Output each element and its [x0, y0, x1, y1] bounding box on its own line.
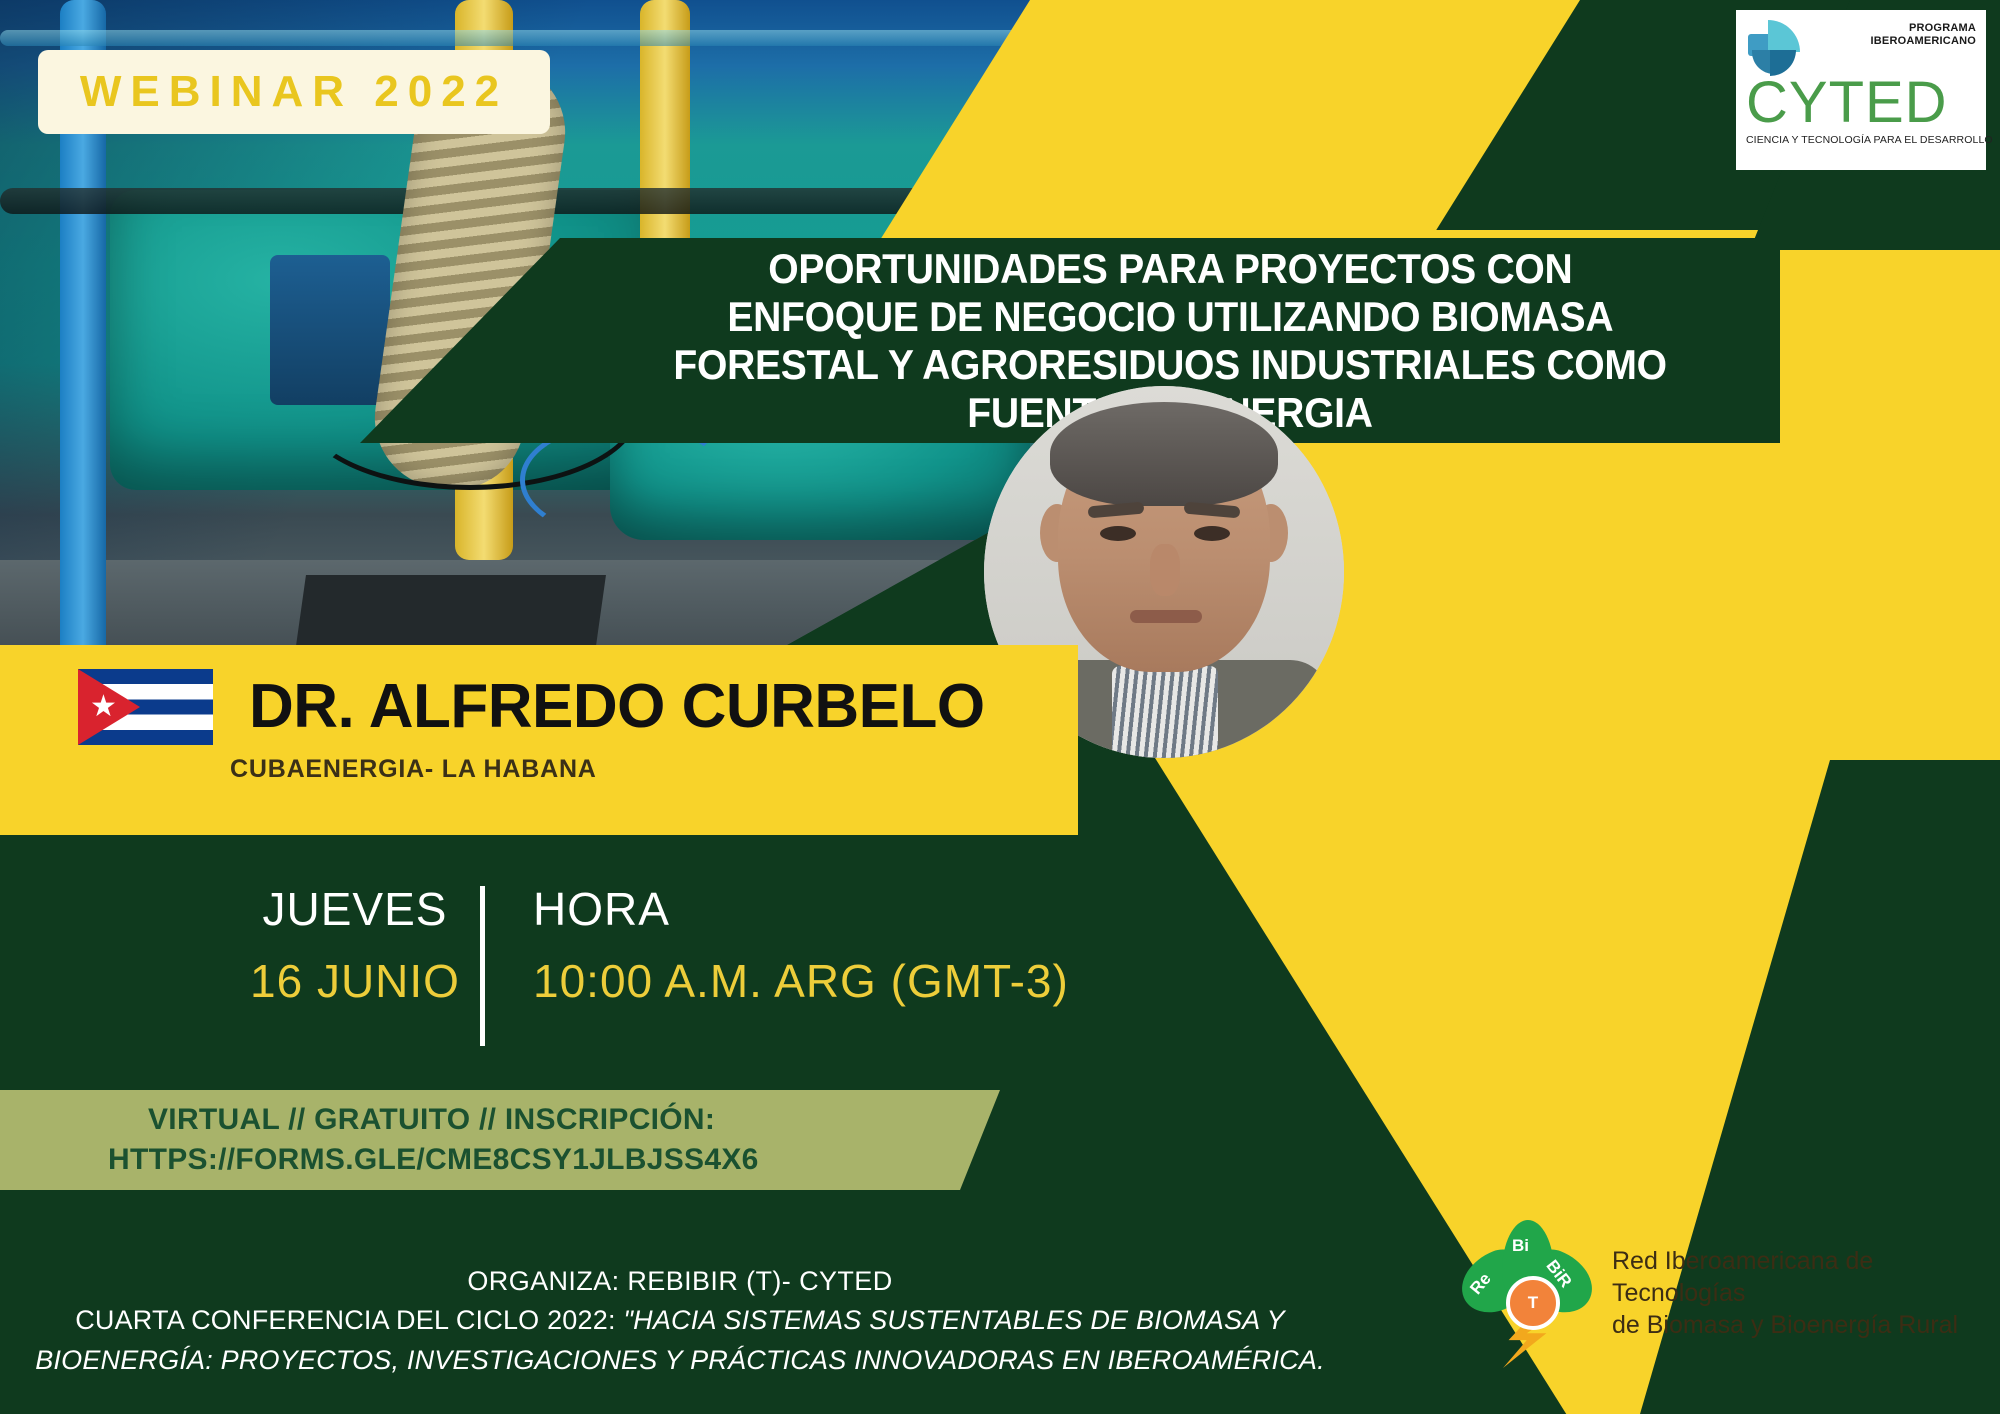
- schedule-date-value: 16 JUNIO: [240, 950, 470, 1012]
- cyted-logo-top: PROGRAMA IBEROAMERICANO: [1746, 16, 1976, 72]
- cyted-wordmark: CYTED: [1746, 74, 1976, 132]
- photo-rail: [0, 30, 1100, 46]
- registration-band[interactable]: VIRTUAL // GRATUITO // INSCRIPCIÓN: HTTP…: [0, 1090, 1000, 1190]
- footer-conference-line-2: BIOENERGÍA: PROYECTOS, INVESTIGACIONES Y…: [0, 1340, 1360, 1380]
- rebibir-center-circle: T: [1506, 1276, 1560, 1330]
- cyted-program-line1: PROGRAMA: [1871, 22, 1976, 35]
- cuba-flag-icon: [78, 669, 213, 745]
- speaker-affiliation: CUBAENERGIA- LA HABANA: [230, 755, 1078, 784]
- cyted-program-text: PROGRAMA IBEROAMERICANO: [1871, 22, 1976, 48]
- rebibir-leaf-icon: Re Bi BiR T: [1456, 1218, 1596, 1368]
- cyted-tagline: CIENCIA Y TECNOLOGÍA PARA EL DESARROLLO: [1746, 134, 1976, 146]
- rebibir-logo: Re Bi BiR T Red Iberoamericana de Tecnol…: [1456, 1218, 1976, 1368]
- registration-url[interactable]: HTTPS://FORMS.GLE/CME8CSY1JLBJSS4X6: [108, 1140, 1000, 1180]
- rebibir-name: Red Iberoamericana de Tecnologías de Bio…: [1612, 1245, 1976, 1341]
- schedule-time-value: 10:00 A.M. ARG (GMT-3): [533, 950, 1069, 1012]
- schedule-day-label: JUEVES: [240, 880, 470, 938]
- title-line-3: FORESTAL Y AGRORESIDUOS INDUSTRIALES COM…: [673, 341, 1666, 389]
- speaker-band: DR. ALFREDO CURBELO CUBAENERGIA- LA HABA…: [0, 645, 1078, 835]
- cyted-pinwheel-icon: [1748, 20, 1800, 72]
- footer-line2-plain: CUARTA CONFERENCIA DEL CICLO 2022:: [75, 1305, 623, 1335]
- rebibir-center-letter: T: [1528, 1293, 1538, 1313]
- footer-conference-line: CUARTA CONFERENCIA DEL CICLO 2022: "HACI…: [0, 1300, 1360, 1340]
- rebibir-name-line2: de Biomasa y Bioenergía Rural: [1612, 1309, 1976, 1341]
- schedule-time-column: HORA 10:00 A.M. ARG (GMT-3): [533, 880, 1069, 1012]
- webinar-badge: WEBINAR 2022: [38, 50, 550, 134]
- rebibir-name-line1: Red Iberoamericana de Tecnologías: [1612, 1245, 1976, 1309]
- schedule-time-label: HORA: [533, 880, 1069, 938]
- schedule-section: JUEVES 16 JUNIO HORA 10:00 A.M. ARG (GMT…: [240, 880, 1160, 1055]
- footer-organizer: ORGANIZA: REBIBIR (T)- CYTED: [0, 1262, 1360, 1300]
- webinar-poster: WEBINAR 2022 PROGRAMA IBEROAMERICANO CYT…: [0, 0, 2000, 1414]
- title-line-1: OPORTUNIDADES PARA PROYECTOS CON: [768, 245, 1572, 293]
- rebibir-mark-bi: Bi: [1512, 1236, 1529, 1256]
- speaker-name: DR. ALFREDO CURBELO: [249, 676, 985, 738]
- cyted-logo-card: PROGRAMA IBEROAMERICANO CYTED CIENCIA Y …: [1736, 10, 1986, 170]
- speaker-row: DR. ALFREDO CURBELO: [0, 645, 1078, 745]
- schedule-divider: [480, 886, 485, 1046]
- cyted-program-line2: IBEROAMERICANO: [1871, 35, 1976, 48]
- title-line-2: ENFOQUE DE NEGOCIO UTILIZANDO BIOMASA: [727, 293, 1613, 341]
- webinar-badge-label: WEBINAR 2022: [80, 67, 508, 117]
- schedule-date-column: JUEVES 16 JUNIO: [240, 880, 470, 1012]
- registration-info: VIRTUAL // GRATUITO // INSCRIPCIÓN:: [148, 1100, 1000, 1140]
- footer-line2-italic: "HACIA SISTEMAS SUSTENTABLES DE BIOMASA …: [623, 1305, 1284, 1335]
- footer: ORGANIZA: REBIBIR (T)- CYTED CUARTA CONF…: [0, 1262, 1360, 1380]
